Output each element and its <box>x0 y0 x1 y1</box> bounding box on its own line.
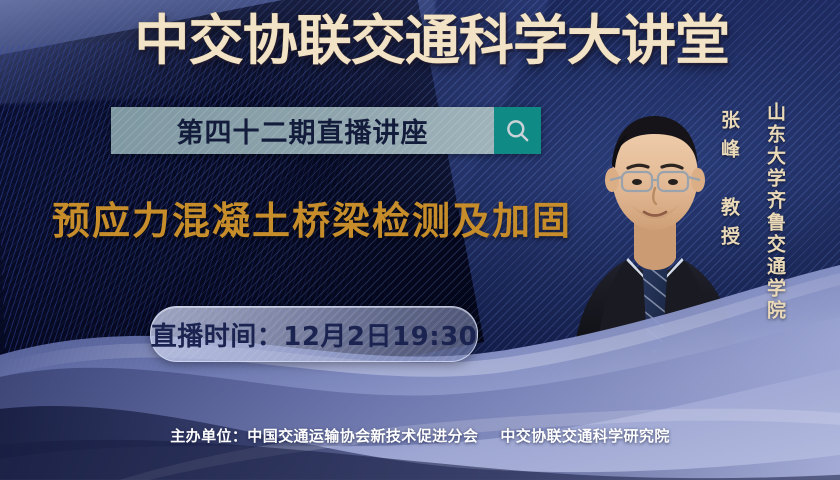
search-icon <box>504 117 531 144</box>
bottom-silk-swoosh <box>0 259 840 480</box>
episode-label: 第四十二期直播讲座 <box>111 107 494 154</box>
page-title: 中交协联交通科学大讲堂 <box>134 14 705 68</box>
organizer-footer: 主办单位：中国交通运输协会新技术促进分会中交协联交通科学研究院 <box>0 425 840 446</box>
live-stream-poster: 中交协联交通科学大讲堂 第四十二期直播讲座 预应力混凝土桥梁检测及加固 直播时间… <box>0 0 840 480</box>
broadcast-time-text: 直播时间：12月2日19:30 <box>151 316 478 353</box>
organizer-name-1: 中国交通运输协会新技术促进分会 <box>247 427 478 445</box>
episode-banner: 第四十二期直播讲座 <box>111 107 541 154</box>
search-button[interactable] <box>494 107 541 154</box>
broadcast-time-badge: 直播时间：12月2日19:30 <box>150 306 478 362</box>
organizer-prefix: 主办单位： <box>170 427 247 445</box>
organizer-name-2: 中交协联交通科学研究院 <box>500 427 669 445</box>
lecture-topic-headline: 预应力混凝土桥梁检测及加固 <box>52 190 572 245</box>
speaker-name: 张峰 教授 <box>716 110 743 255</box>
speaker-affiliation: 山东大学齐鲁交通学院 <box>762 102 789 322</box>
